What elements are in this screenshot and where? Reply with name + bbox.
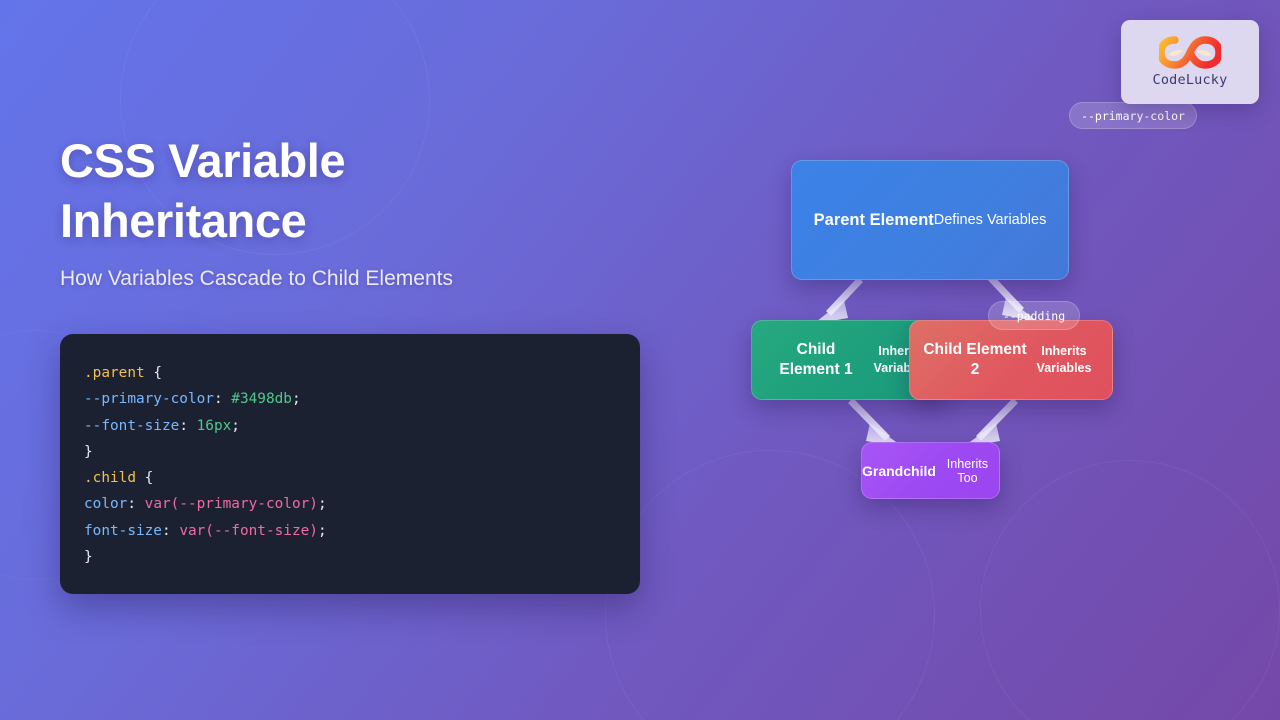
page-title-line-1: CSS Variable <box>60 131 620 191</box>
page-title: CSS Variable Inheritance <box>60 131 620 251</box>
variable-chip-padding[interactable]: --padding <box>988 301 1080 330</box>
code-block-content: .parent { --primary-color: #3498db; --fo… <box>84 360 640 570</box>
arrow-child2-to-grandchild <box>963 398 1018 447</box>
diagram-node-child2[interactable]: Child Element 2 Inherits Variables <box>909 320 1113 400</box>
page-title-line-2: Inheritance <box>60 191 620 251</box>
diagram-node-parent[interactable]: Parent ElementDefines Variables <box>791 160 1069 280</box>
node-grandchild-name: Grandchild <box>862 463 936 479</box>
inheritance-diagram: Parent ElementDefines Variables Child El… <box>700 0 1280 720</box>
arrow-parent-to-child1 <box>812 277 863 325</box>
brand-logo-card[interactable]: CodeLucky <box>1121 20 1259 104</box>
node-child2-sub: Inherits Variables <box>1029 343 1099 377</box>
page-subtitle: How Variables Cascade to Child Elements <box>60 265 660 293</box>
node-parent-name: Parent Element <box>814 211 934 230</box>
brand-name: CodeLucky <box>1153 72 1228 88</box>
diagram-node-grandchild[interactable]: GrandchildInherits Too <box>861 442 1000 499</box>
arrow-child1-to-grandchild <box>848 398 903 447</box>
node-parent-sub: Defines Variables <box>934 212 1047 228</box>
code-block-card: .parent { --primary-color: #3498db; --fo… <box>60 334 640 594</box>
variable-chip-primary-color[interactable]: --primary-color <box>1069 102 1197 129</box>
node-grandchild-sub: Inherits Too <box>936 457 999 485</box>
infinity-leaf-icon <box>1159 36 1221 69</box>
node-child1-name: Child Element 1 <box>766 340 866 380</box>
node-child2-name: Child Element 2 <box>923 340 1027 380</box>
